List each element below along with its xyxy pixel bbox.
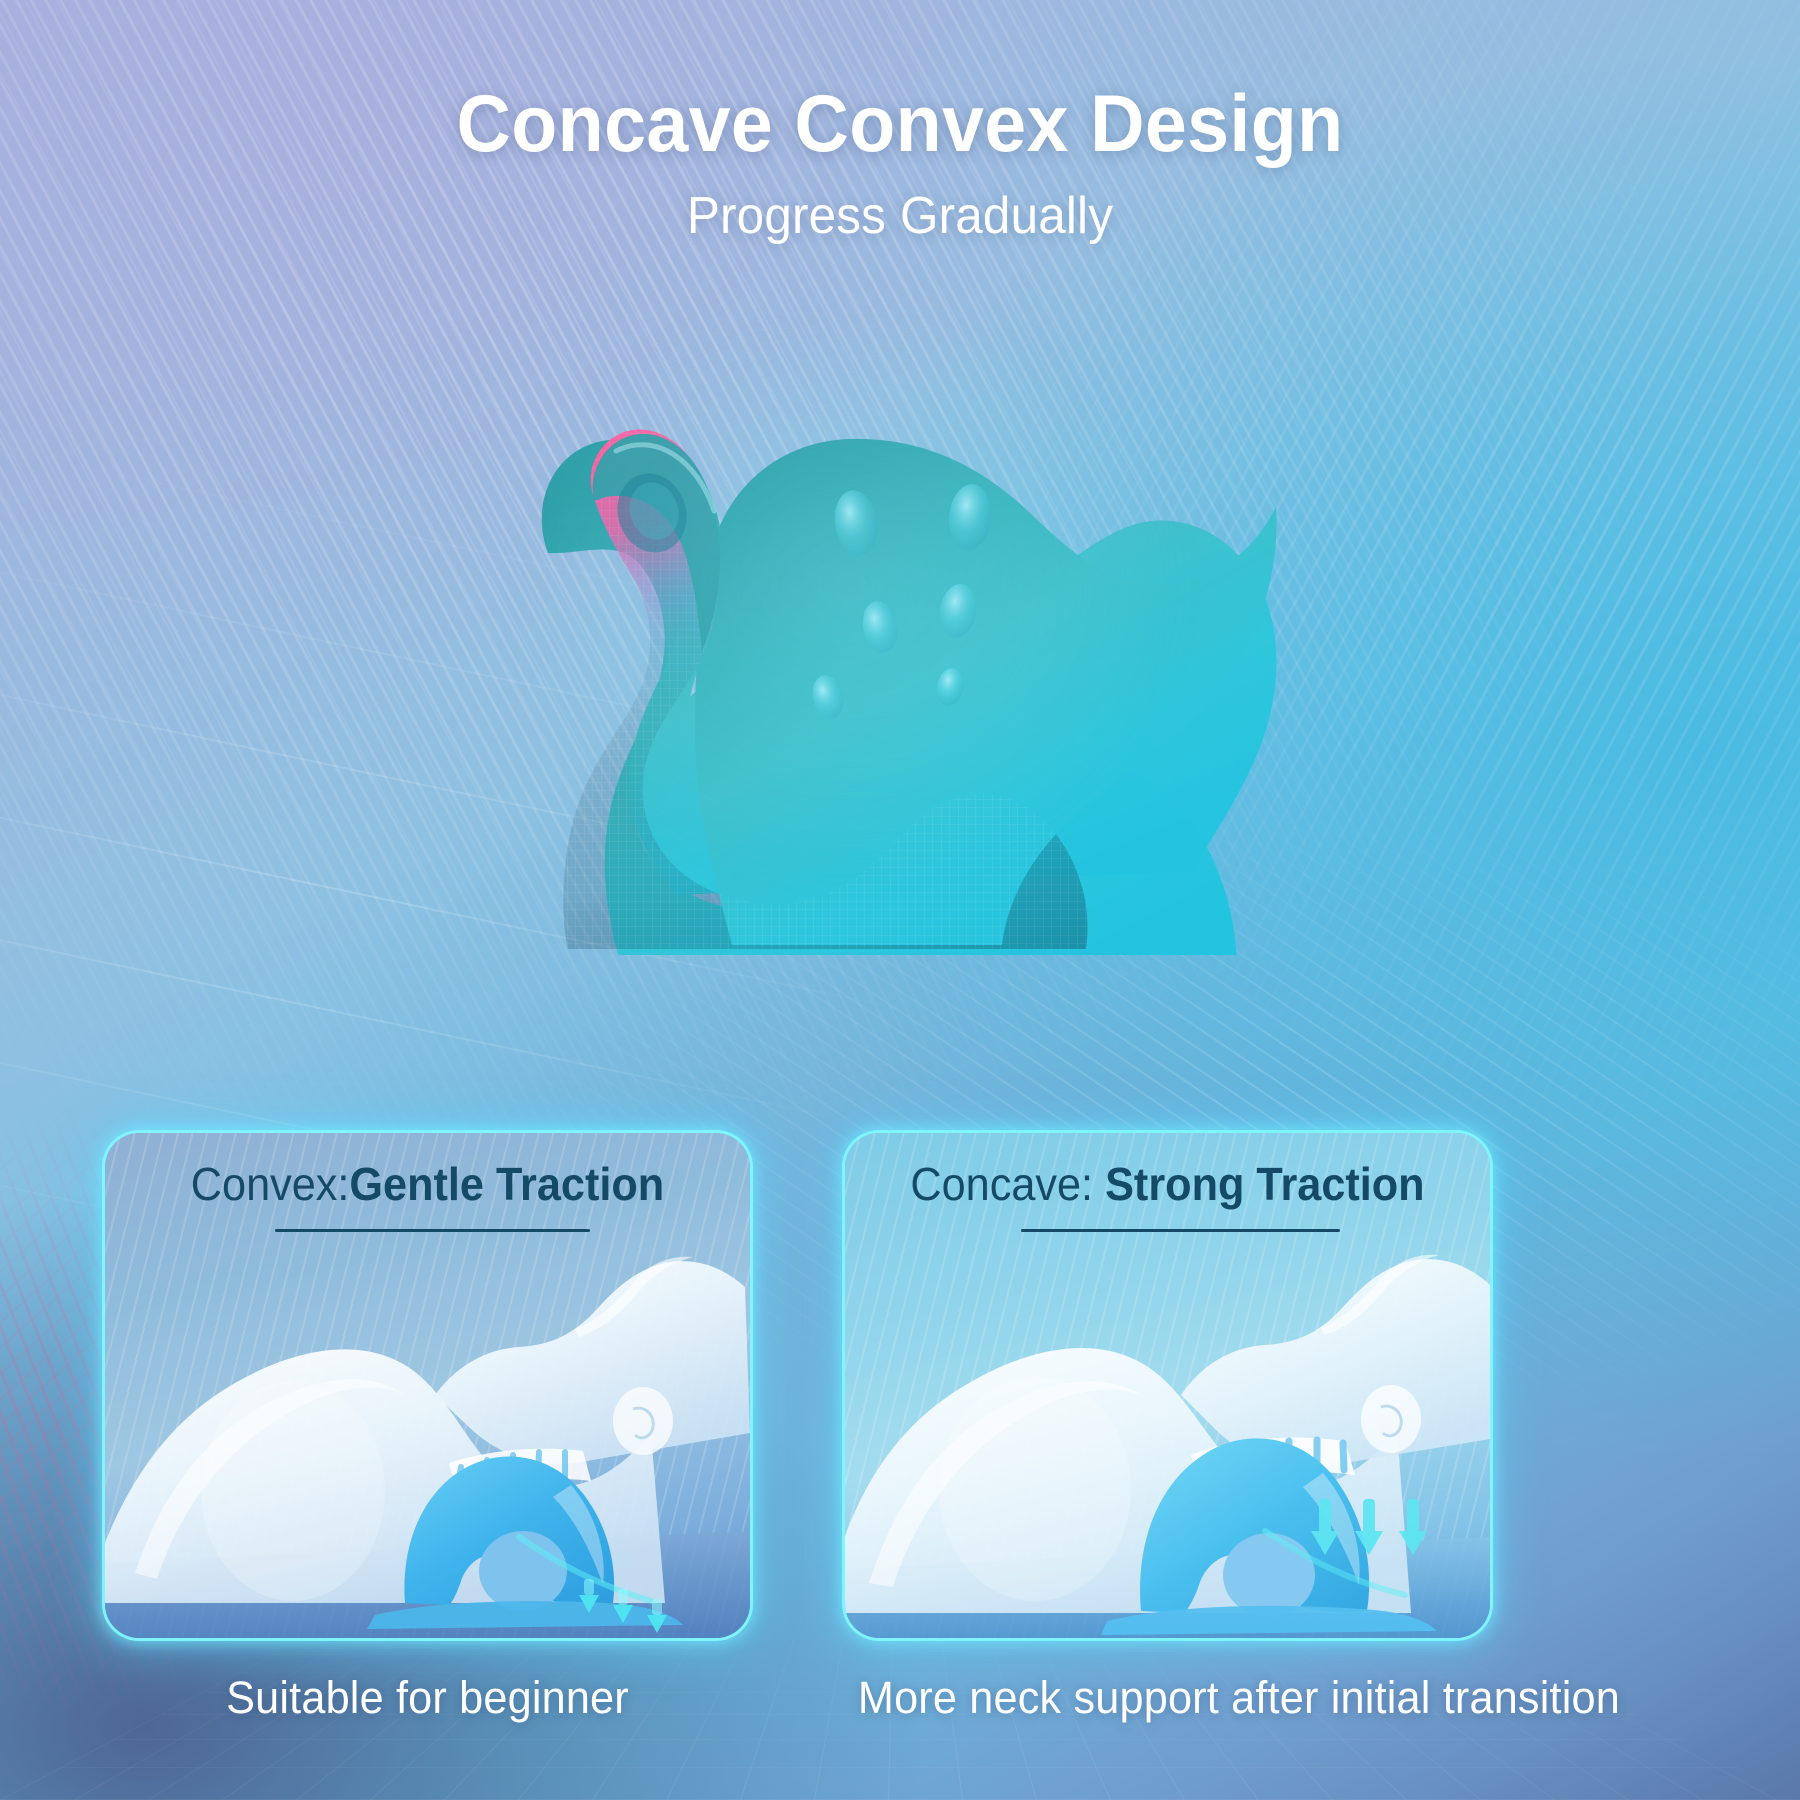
panel-convex[interactable]: Convex:Gentle Traction [105, 1133, 750, 1638]
panel-convex-rule [275, 1229, 590, 1232]
page-title: Concave Convex Design [63, 78, 1737, 171]
page-subtitle: Progress Gradually [45, 186, 1755, 246]
product-infographic: Concave Convex Design Progress Gradually [0, 0, 1800, 1800]
panel-concave-heading: Concave: Strong Traction [864, 1157, 1470, 1211]
traction-arrows-concave [1311, 1499, 1427, 1555]
caption-convex: Suitable for beginner [118, 1672, 737, 1724]
panel-concave[interactable]: Concave: Strong Traction [845, 1133, 1490, 1638]
panel-concave-heading-light: Concave: [910, 1158, 1105, 1210]
caption-concave: More neck support after initial transiti… [858, 1672, 1477, 1724]
comparison-panels: Convex:Gentle Traction [0, 1133, 1800, 1653]
panel-convex-heading: Convex:Gentle Traction [124, 1157, 730, 1211]
panel-concave-rule [1021, 1229, 1340, 1232]
hero-product-image [380, 255, 1300, 955]
panel-concave-heading-bold: Strong Traction [1105, 1158, 1425, 1210]
neck-pillow-render [380, 255, 1300, 955]
panel-convex-heading-light: Convex: [191, 1158, 350, 1210]
panel-convex-heading-bold: Gentle Traction [349, 1158, 664, 1210]
